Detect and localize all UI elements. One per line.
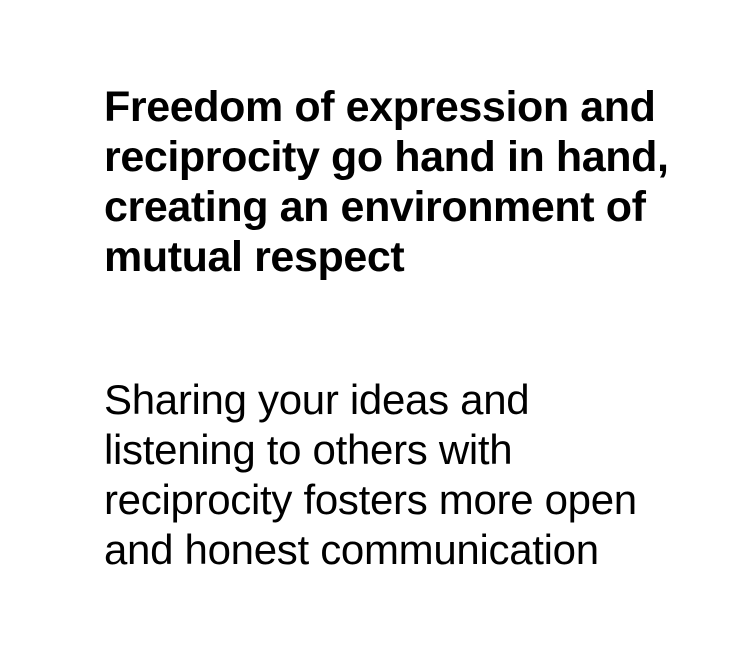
headline-line-2: reciprocity go hand in hand, <box>104 132 644 182</box>
body-text-block: Sharing your ideas and listening to othe… <box>104 375 644 575</box>
slide-canvas: Freedom of expression and reciprocity go… <box>0 0 750 650</box>
body-line-3: reciprocity fosters more open <box>104 475 644 525</box>
body-line-4: and honest communication <box>104 525 644 575</box>
body-line-2: listening to others with <box>104 425 644 475</box>
headline-line-4: mutual respect <box>104 232 644 282</box>
headline-block: Freedom of expression and reciprocity go… <box>104 82 644 282</box>
headline-line-3: creating an environment of <box>104 182 644 232</box>
body-line-1: Sharing your ideas and <box>104 375 644 425</box>
headline-line-1: Freedom of expression and <box>104 82 644 132</box>
